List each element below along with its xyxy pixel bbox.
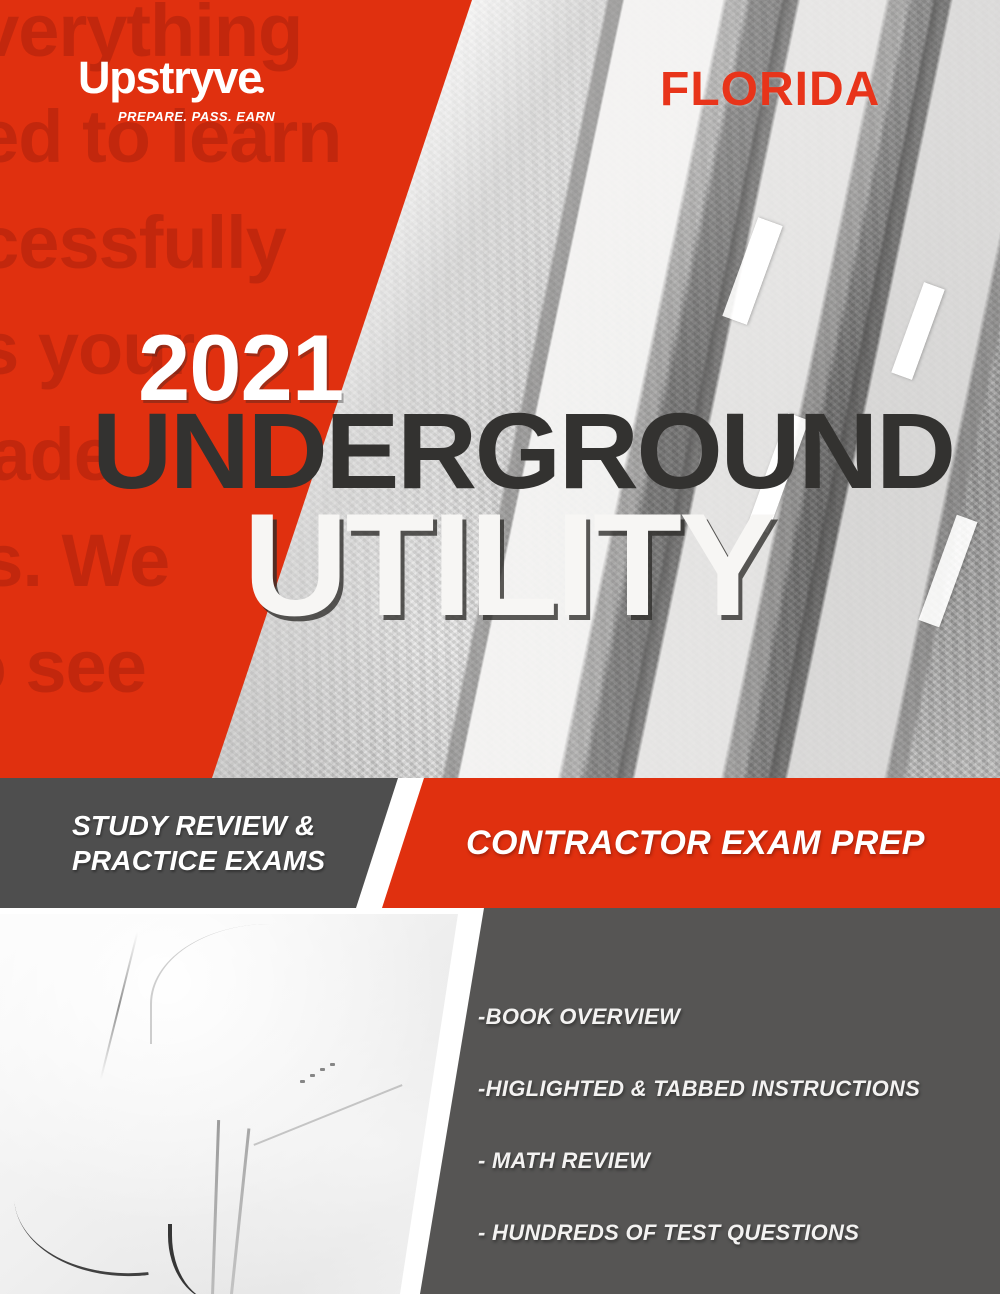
dash-mark bbox=[310, 1074, 315, 1077]
feature-item: - MATH REVIEW bbox=[478, 1150, 978, 1172]
dash-mark bbox=[330, 1063, 335, 1066]
cover-hero-section: everything eed to learn ccessfully ss yo… bbox=[0, 0, 1000, 778]
cover-footer-section: -BOOK OVERVIEW -HIGLIGHTED & TABBED INST… bbox=[0, 908, 1000, 1294]
pipe-tape-band bbox=[891, 282, 945, 380]
dash-mark bbox=[320, 1068, 325, 1071]
contractor-exam-prep-label: CONTRACTOR EXAM PREP bbox=[466, 824, 925, 863]
feature-item: -HIGLIGHTED & TABBED INSTRUCTIONS bbox=[478, 1078, 978, 1100]
state-label: FLORIDA bbox=[660, 66, 880, 114]
features-list: -BOOK OVERVIEW -HIGLIGHTED & TABBED INST… bbox=[478, 1006, 978, 1244]
cable-line bbox=[229, 1128, 251, 1294]
study-review-label: STUDY REVIEW & PRACTICE EXAMS bbox=[72, 808, 372, 878]
cable-line bbox=[100, 932, 139, 1080]
logo-dot-icon bbox=[258, 87, 264, 93]
brand-logo: Upstryve PREPARE. PASS. EARN bbox=[78, 55, 328, 124]
cable-line bbox=[253, 1084, 402, 1146]
cable-line bbox=[150, 924, 270, 1044]
dash-mark bbox=[300, 1080, 305, 1083]
logo-wordmark-text: Upstryve bbox=[78, 52, 261, 103]
feature-item: -BOOK OVERVIEW bbox=[478, 1006, 978, 1028]
pipe-tape-band bbox=[722, 217, 782, 325]
logo-wordmark: Upstryve bbox=[78, 55, 328, 100]
cable-line bbox=[168, 1224, 218, 1294]
cable-line bbox=[13, 1180, 148, 1289]
subtitle-band: STUDY REVIEW & PRACTICE EXAMS CONTRACTOR… bbox=[0, 778, 1000, 908]
title-line-utility: UTILITY bbox=[243, 492, 774, 638]
feature-item: - HUNDREDS OF TEST QUESTIONS bbox=[478, 1222, 978, 1244]
logo-tagline: PREPARE. PASS. EARN bbox=[118, 109, 328, 124]
book-cover: everything eed to learn ccessfully ss yo… bbox=[0, 0, 1000, 1294]
pipe-tape-band bbox=[919, 515, 978, 628]
